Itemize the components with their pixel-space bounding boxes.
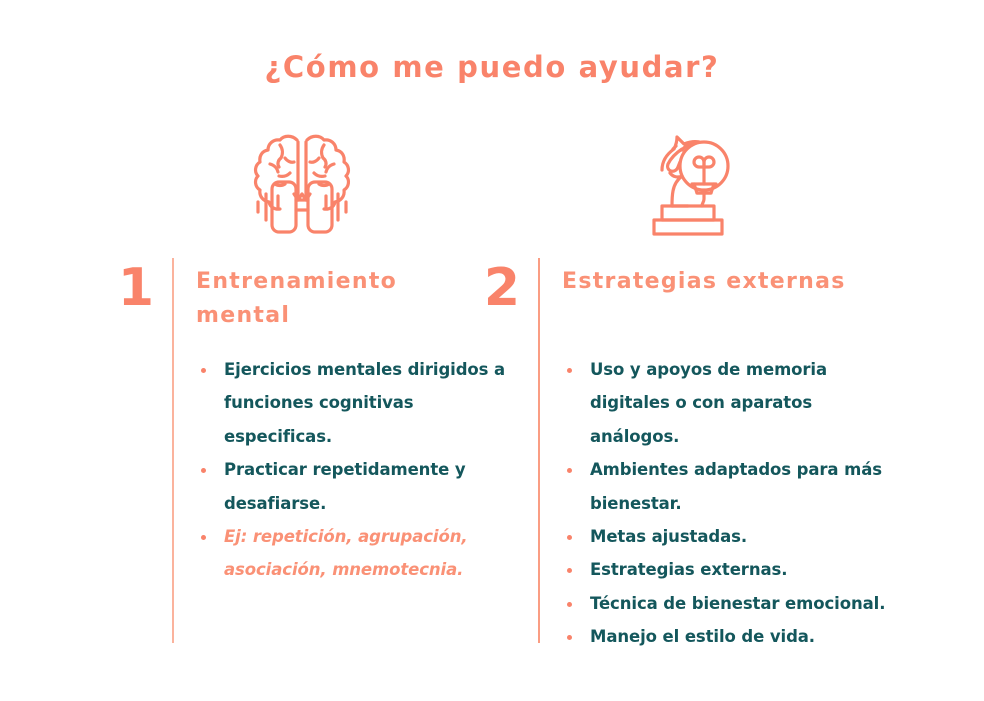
list-item: Uso y apoyos de memoria digitales o con … <box>562 353 902 453</box>
chess-knight-lightbulb-icon <box>538 110 838 250</box>
list-item: Metas ajustadas. <box>562 520 902 553</box>
list-item-text: Manejo el estilo de vida. <box>590 627 815 646</box>
bullet-dot-icon <box>201 468 206 473</box>
list-item-text: Ej: repetición, agrupación, asociación, … <box>224 527 468 579</box>
column-1-bullet-list: Ejercicios mentales dirigidos a funcione… <box>196 353 506 587</box>
list-item-text: Ambientes adaptados para más bienestar. <box>590 460 882 512</box>
page-title: ¿Cómo me puedo ayudar? <box>0 50 984 84</box>
bullet-dot-icon <box>567 368 572 373</box>
list-item: Ambientes adaptados para más bienestar. <box>562 453 902 520</box>
column-2: 2 Estrategias externas Uso y apoyos de m… <box>476 110 896 670</box>
columns-container: 1 Entrenamiento mental Ejercicios mental… <box>0 110 984 670</box>
column-1-heading: Entrenamiento mental <box>196 265 496 333</box>
list-item: Estrategias externas. <box>562 553 902 586</box>
list-item: Practicar repetidamente y desafiarse. <box>196 453 506 520</box>
bullet-dot-icon <box>201 368 206 373</box>
bullet-dot-icon <box>567 635 572 640</box>
list-item-text: Técnica de bienestar emocional. <box>590 594 885 613</box>
list-item: Manejo el estilo de vida. <box>562 620 902 653</box>
list-item: Técnica de bienestar emocional. <box>562 587 902 620</box>
list-item-text: Uso y apoyos de memoria digitales o con … <box>590 360 827 446</box>
bullet-dot-icon <box>567 535 572 540</box>
bullet-dot-icon <box>201 535 206 540</box>
column-2-number: 2 <box>476 262 528 314</box>
list-item-text: Practicar repetidamente y desafiarse. <box>224 460 466 512</box>
column-1-divider <box>172 258 174 643</box>
list-item-text: Ejercicios mentales dirigidos a funcione… <box>224 360 505 446</box>
list-item: Ej: repetición, agrupación, asociación, … <box>196 520 506 587</box>
bullet-dot-icon <box>567 602 572 607</box>
bullet-dot-icon <box>567 468 572 473</box>
bullet-dot-icon <box>567 568 572 573</box>
column-2-divider <box>538 258 540 643</box>
column-1: 1 Entrenamiento mental Ejercicios mental… <box>110 110 490 670</box>
brain-dumbbell-icon <box>172 110 432 250</box>
list-item: Ejercicios mentales dirigidos a funcione… <box>196 353 506 453</box>
column-1-number: 1 <box>110 262 162 314</box>
list-item-text: Estrategias externas. <box>590 560 787 579</box>
column-2-heading: Estrategias externas <box>562 265 862 299</box>
list-item-text: Metas ajustadas. <box>590 527 747 546</box>
column-2-bullet-list: Uso y apoyos de memoria digitales o con … <box>562 353 902 654</box>
slide-root: ¿Cómo me puedo ayudar? <box>0 0 984 701</box>
